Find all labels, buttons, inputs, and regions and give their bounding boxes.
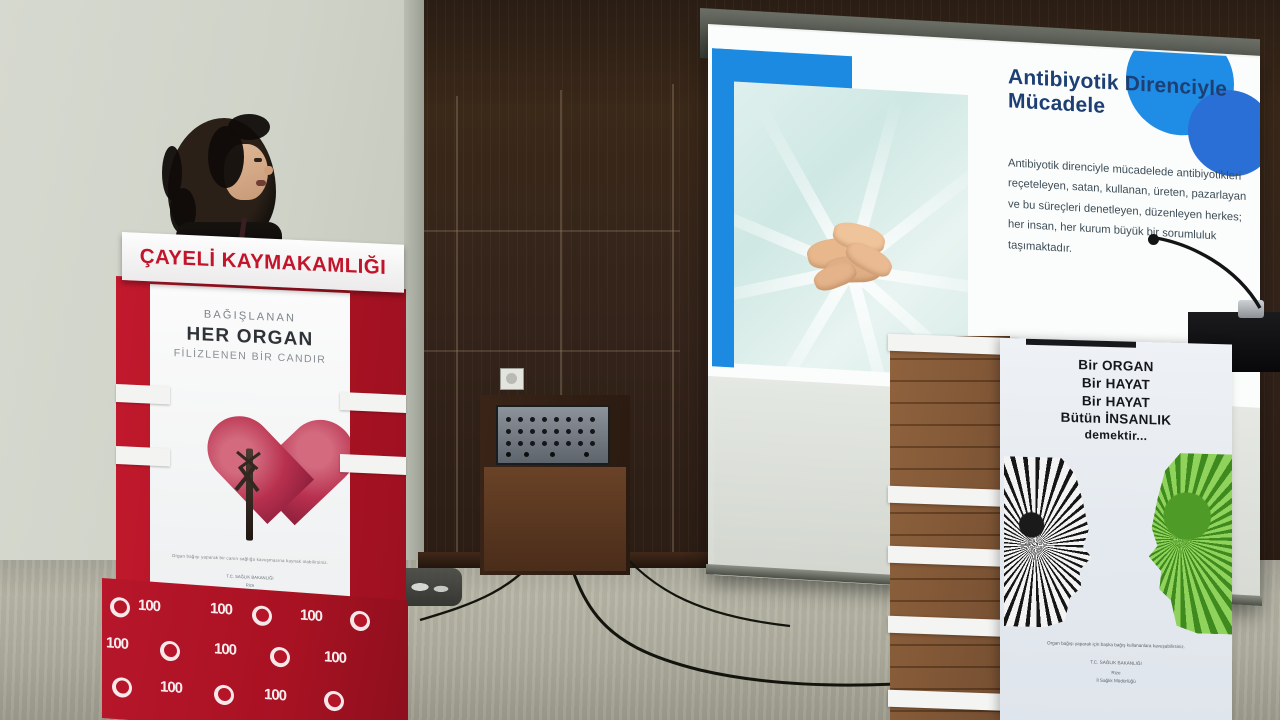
logo-100: 100	[300, 607, 322, 626]
mouth	[256, 180, 266, 186]
logo-100: 100	[210, 600, 232, 619]
turkiye-yuzyili-logo-icon	[112, 677, 132, 698]
slide-photo-hands	[734, 81, 968, 376]
wall-panel-seam	[420, 350, 680, 352]
audio-mixer[interactable]	[496, 405, 610, 465]
power-outlet-icon	[500, 368, 524, 390]
banner-stand	[890, 336, 1010, 720]
podium-strap	[116, 384, 170, 404]
turkiye-yuzyili-logo-icon	[214, 684, 234, 705]
logo-100: 100	[160, 678, 182, 697]
presentation-room-photo: Antibiyotik Direnciyle Mücadele Antibiyo…	[0, 0, 1280, 720]
wall-panel-seam	[420, 230, 680, 232]
logo-100: 100	[324, 648, 346, 667]
podium-base-backdrop: 100 100 100 100 100 100 100 100	[102, 578, 408, 720]
podium-strap	[116, 446, 170, 466]
banner-fine-print: Organ bağışı yaparak için başka bağış ku…	[1000, 638, 1232, 652]
logo-100: 100	[264, 686, 286, 705]
heart-tree-artwork	[172, 369, 328, 546]
equipment-cabinet	[480, 395, 630, 575]
nose	[264, 166, 273, 175]
logo-100: 100	[106, 634, 128, 653]
turkiye-yuzyili-logo-icon	[160, 640, 180, 661]
hands-illustration	[803, 216, 899, 300]
turkiye-yuzyili-logo-icon	[252, 605, 272, 626]
eye	[254, 158, 262, 162]
turkiye-yuzyili-logo-icon	[110, 597, 130, 618]
turkiye-yuzyili-logo-icon	[324, 690, 344, 711]
microphone-head-icon	[1148, 234, 1159, 245]
podium-strap	[340, 454, 406, 475]
turkiye-yuzyili-logo-icon	[270, 646, 290, 667]
podium-poster: BAĞIŞLANAN HER ORGAN FİLİZLENEN BİR CAND…	[150, 284, 350, 611]
turkiye-yuzyili-logo-icon	[350, 610, 370, 631]
head-profile-green-tree	[1144, 452, 1232, 635]
organ-donation-banner: Bir ORGAN Bir HAYAT Bir HAYAT Bütün İNSA…	[1000, 338, 1232, 720]
podium-sign-text: ÇAYELİ KAYMAKAMLIĞI	[140, 245, 386, 280]
cabinet-front-panel	[484, 467, 626, 571]
speaker-person	[168, 118, 288, 248]
head-profile-bare-tree	[1004, 456, 1096, 629]
poster-fine-print: Organ bağışı yaparak bir canın sağlığa k…	[160, 552, 340, 567]
logo-100: 100	[138, 597, 160, 616]
microphone-gooseneck-icon	[1150, 230, 1280, 320]
podium: BAĞIŞLANAN HER ORGAN FİLİZLENEN BİR CAND…	[100, 232, 400, 720]
podium-strap	[340, 392, 406, 413]
banner-text-block: Bir ORGAN Bir HAYAT Bir HAYAT Bütün İNSA…	[1000, 354, 1232, 448]
slide-accent-bar	[712, 48, 734, 367]
logo-100: 100	[214, 640, 236, 659]
